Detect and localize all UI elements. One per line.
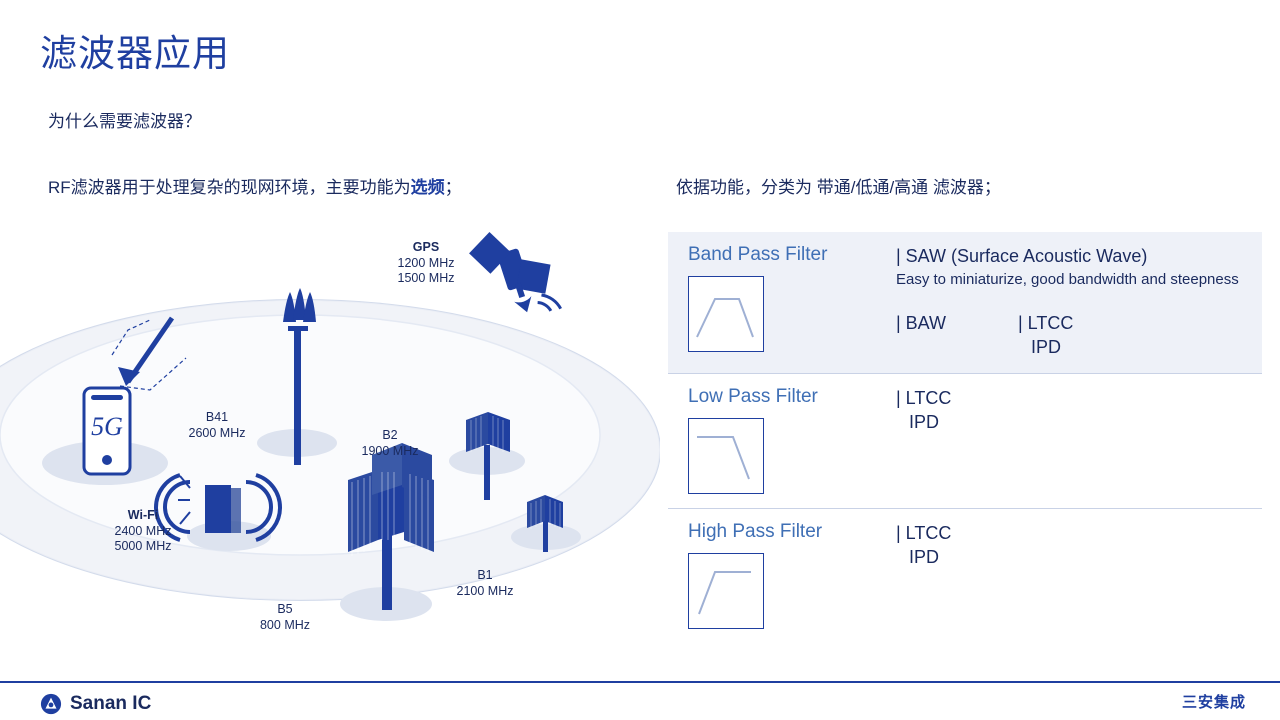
band-pass-description: Easy to miniaturize, good bandwidth and … (896, 270, 1262, 290)
low-pass-tech-ipd: IPD (896, 410, 939, 434)
footer-brand: Sanan IC (40, 693, 151, 715)
band-pass-tech-ltcc-ipd: | LTCC IPD (1018, 311, 1073, 360)
high-pass-tech-ltcc: | LTCC (896, 523, 951, 543)
band-pass-curve (689, 277, 762, 350)
network-illustration: 5G (0, 220, 660, 680)
lead-text-right: 依据功能，分类为 带通/低通/高通 滤波器； (676, 173, 1001, 198)
label-b5: B5 800 MHz (238, 602, 332, 633)
high-pass-filter-label: High Pass Filter (688, 521, 890, 543)
lead-text-left: RF滤波器用于处理复杂的现网环境，主要功能为选频； (48, 173, 462, 198)
page-title: 滤波器应用 (40, 34, 230, 75)
band-pass-tech-baw: | BAW (896, 311, 1018, 360)
filter-row-band-pass: Band Pass Filter | SAW (Surface Acoustic… (668, 232, 1262, 373)
high-pass-curve (689, 554, 762, 627)
sanan-logo-icon (40, 693, 62, 715)
band-pass-tech-ltcc: | LTCC (1018, 313, 1073, 333)
lead-left-highlight: 选频 (411, 178, 445, 197)
label-wifi-line2: 5000 MHz (115, 539, 172, 553)
label-gps-line1: 1200 MHz (398, 256, 455, 270)
low-pass-tech: | LTCC IPD (896, 386, 1262, 435)
label-b1-line1: 2100 MHz (457, 584, 514, 598)
lead-left-post: ； (445, 178, 462, 197)
low-pass-right: | LTCC IPD (890, 386, 1262, 494)
svg-text:5G: 5G (91, 412, 123, 441)
label-b5-title: B5 (277, 602, 292, 616)
high-pass-left: High Pass Filter (668, 521, 890, 629)
label-b41: B41 2600 MHz (170, 410, 264, 441)
band-pass-left: Band Pass Filter (668, 244, 890, 359)
label-b1: B1 2100 MHz (438, 568, 532, 599)
label-wifi: Wi-Fi 2400 MHz 5000 MHz (96, 508, 190, 555)
label-wifi-title: Wi-Fi (128, 508, 158, 522)
filter-row-high-pass: High Pass Filter | LTCC IPD (668, 509, 1262, 643)
band-pass-tech-ipd: IPD (1018, 335, 1061, 359)
label-b41-line1: 2600 MHz (189, 426, 246, 440)
footer-divider (0, 681, 1280, 683)
high-pass-response-graph (688, 553, 764, 629)
footer-brand-cn: 三安集成 (1182, 691, 1246, 712)
label-b2-line1: 1900 MHz (362, 444, 419, 458)
label-gps-line2: 1500 MHz (398, 271, 455, 285)
band-pass-tech-saw: | SAW (Surface Acoustic Wave) (896, 246, 1147, 266)
band-pass-right: | SAW (Surface Acoustic Wave) Easy to mi… (890, 244, 1262, 359)
high-pass-tech-ipd: IPD (896, 545, 939, 569)
label-b5-line1: 800 MHz (260, 618, 310, 632)
band-pass-response-graph (688, 276, 764, 352)
low-pass-left: Low Pass Filter (668, 386, 890, 494)
label-gps: GPS 1200 MHz 1500 MHz (378, 240, 474, 287)
low-pass-filter-label: Low Pass Filter (688, 386, 890, 408)
low-pass-tech-ltcc: | LTCC (896, 388, 951, 408)
lead-left-pre: RF滤波器用于处理复杂的现网环境，主要功能为 (48, 178, 411, 197)
low-pass-response-graph (688, 418, 764, 494)
label-wifi-line1: 2400 MHz (115, 524, 172, 538)
low-pass-curve (689, 419, 762, 492)
band-pass-tech-main: | SAW (Surface Acoustic Wave) Easy to mi… (896, 244, 1262, 291)
high-pass-tech: | LTCC IPD (896, 521, 1262, 570)
band-pass-tech-secondary: | BAW | LTCC IPD (896, 311, 1262, 360)
band-pass-filter-label: Band Pass Filter (688, 244, 890, 266)
filter-row-low-pass: Low Pass Filter | LTCC IPD (668, 374, 1262, 508)
high-pass-right: | LTCC IPD (890, 521, 1262, 629)
label-b2-title: B2 (382, 428, 397, 442)
label-gps-title: GPS (413, 240, 439, 254)
filter-types-panel: Band Pass Filter | SAW (Surface Acoustic… (668, 232, 1262, 643)
label-b2: B2 1900 MHz (343, 428, 437, 459)
footer-brand-label: Sanan IC (70, 693, 151, 715)
page-subtitle: 为什么需要滤波器？ (48, 107, 201, 132)
slide: 滤波器应用 为什么需要滤波器？ RF滤波器用于处理复杂的现网环境，主要功能为选频… (0, 0, 1280, 720)
label-b1-title: B1 (477, 568, 492, 582)
label-b41-title: B41 (206, 410, 228, 424)
